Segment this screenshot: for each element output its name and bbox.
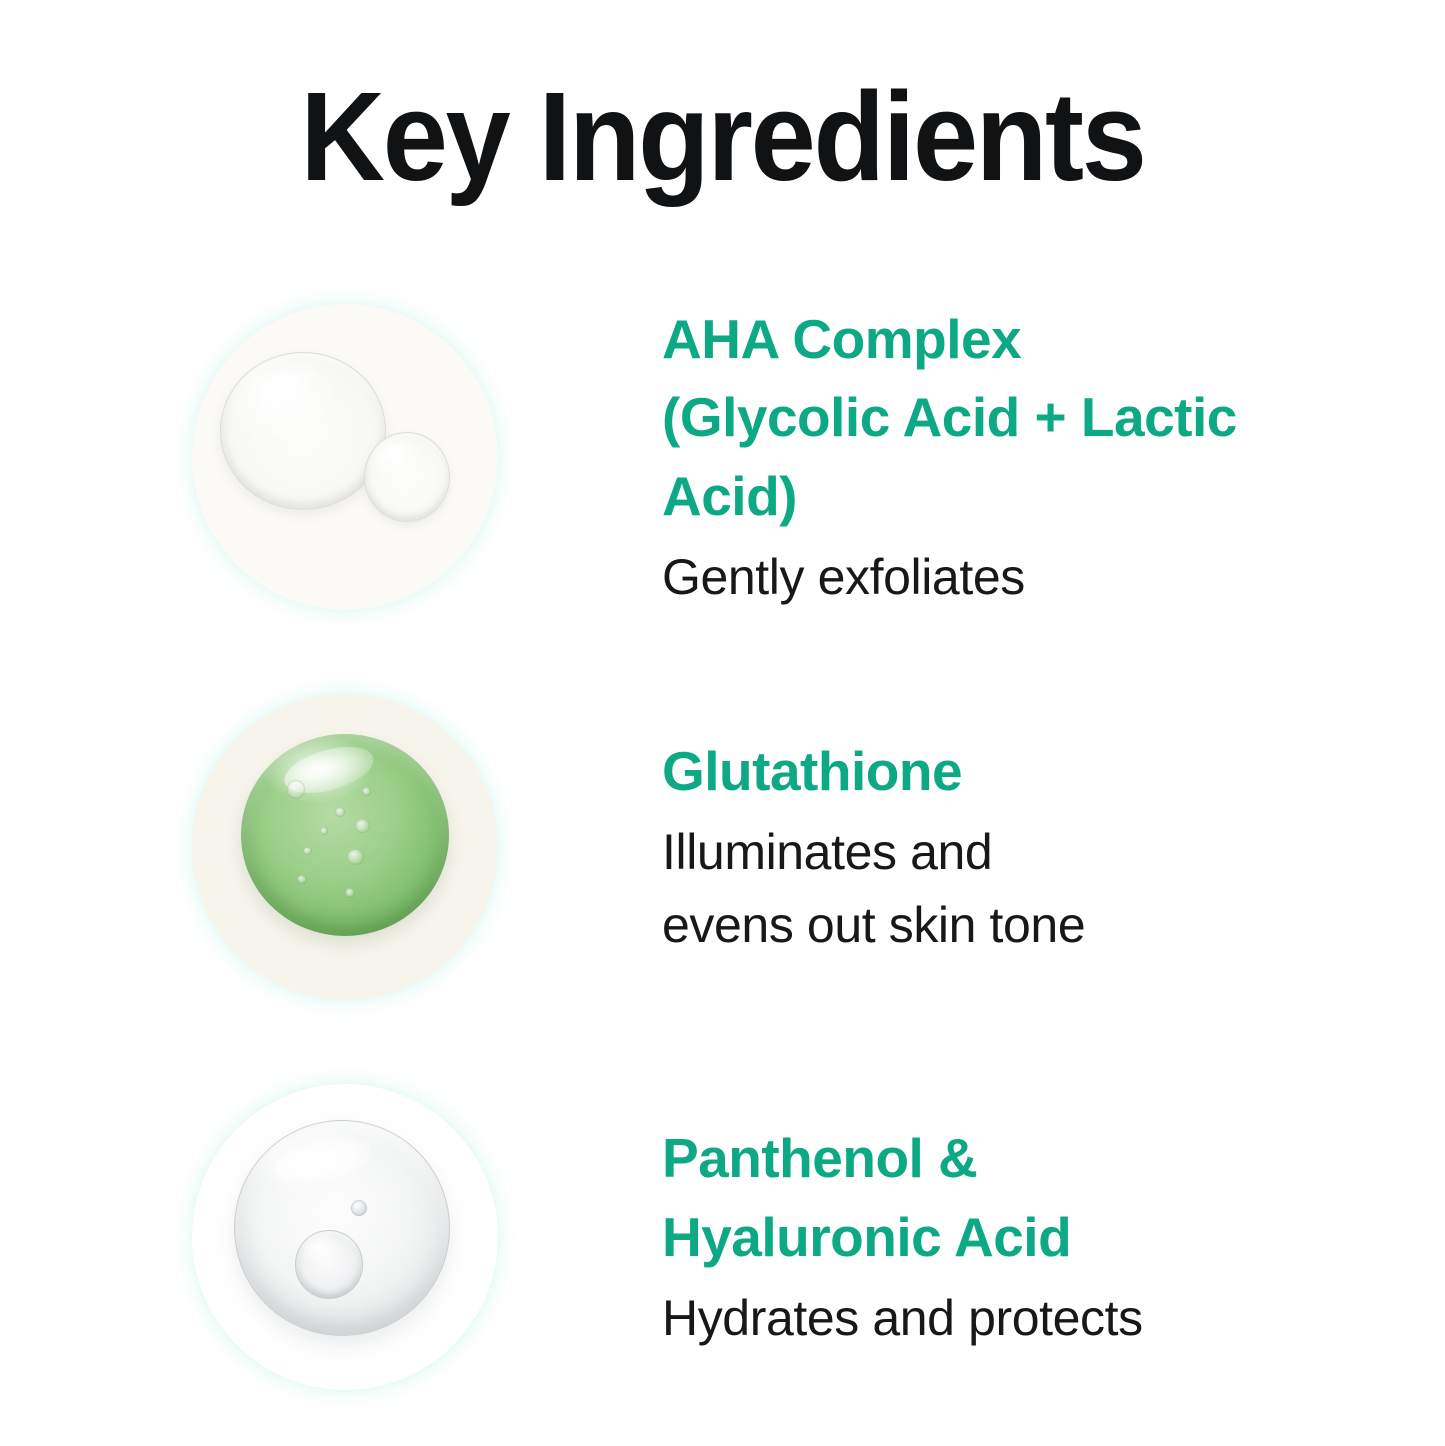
ingredient-row-aha-complex: AHA Complex (Glycolic Acid + Lactic Acid…	[0, 262, 1445, 652]
bubble-icon	[345, 888, 355, 898]
ingredient-text-aha-complex: AHA Complex (Glycolic Acid + Lactic Acid…	[662, 300, 1362, 613]
swatch-disc	[192, 1084, 498, 1390]
bubble-icon	[335, 807, 345, 817]
bubble-icon	[351, 1200, 367, 1216]
ingredient-heading: Panthenol & Hyaluronic Acid	[662, 1119, 1143, 1275]
bubble-icon	[320, 827, 328, 835]
green-gel-droplet-icon	[241, 734, 449, 936]
bubble-icon	[347, 849, 364, 865]
clear-droplet-large-icon	[220, 352, 386, 510]
ingredient-text-panthenol-hyaluronic-acid: Panthenol & Hyaluronic Acid Hydrates and…	[662, 1119, 1143, 1354]
inner-droplet-icon	[295, 1230, 363, 1298]
page-title: Key Ingredients	[51, 74, 1395, 200]
ingredient-row-glutathione: Glutathione Illuminates and evens out sk…	[0, 652, 1445, 1042]
clear-droplet-large-icon	[234, 1120, 450, 1336]
swatch-disc	[192, 694, 498, 1000]
bubble-icon	[297, 875, 306, 884]
ingredient-row-panthenol-hyaluronic-acid: Panthenol & Hyaluronic Acid Hydrates and…	[0, 1042, 1445, 1432]
ingredient-description: Illuminates and evens out skin tone	[662, 816, 1085, 962]
ingredient-visual-glutathione	[150, 652, 540, 1042]
bubble-icon	[355, 819, 370, 833]
clear-droplet-small-icon	[364, 432, 450, 522]
ingredient-visual-aha-complex	[150, 262, 540, 652]
ingredient-list: AHA Complex (Glycolic Acid + Lactic Acid…	[0, 262, 1445, 1432]
ingredient-heading: Glutathione	[662, 732, 1085, 810]
bubble-icon	[287, 780, 306, 798]
bubble-icon	[362, 787, 371, 796]
ingredient-description: Gently exfoliates	[662, 541, 1362, 614]
ingredient-visual-panthenol-hyaluronic-acid	[150, 1042, 540, 1432]
ingredient-heading: AHA Complex (Glycolic Acid + Lactic Acid…	[662, 300, 1362, 534]
ingredient-text-glutathione: Glutathione Illuminates and evens out sk…	[662, 732, 1085, 962]
ingredient-description: Hydrates and protects	[662, 1282, 1143, 1355]
bubble-icon	[303, 847, 311, 855]
swatch-disc	[192, 304, 498, 610]
